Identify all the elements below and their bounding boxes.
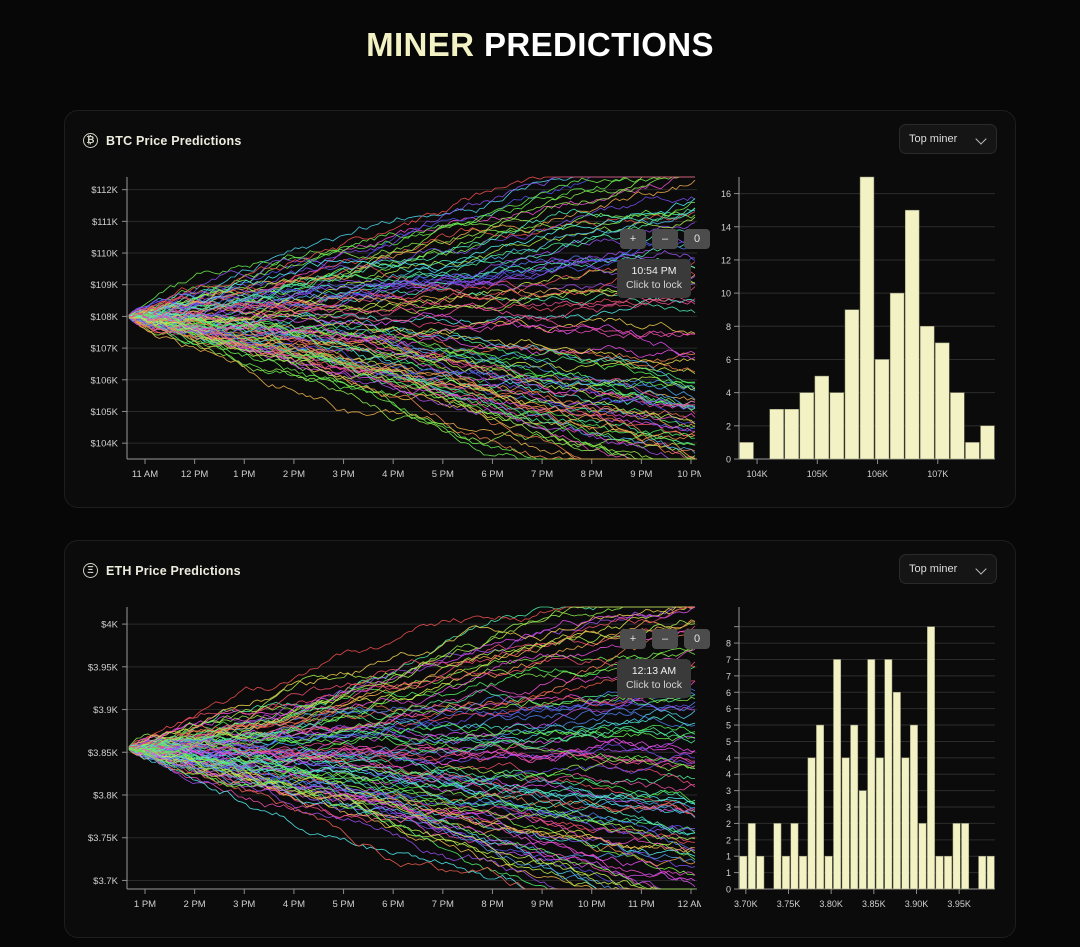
svg-text:8 PM: 8 PM [481,899,503,910]
svg-text:6 PM: 6 PM [481,469,503,480]
svg-text:6 PM: 6 PM [382,899,404,910]
eth-distribution-histogram[interactable]: 01122334455667783.70K3.75K3.80K3.85K3.90… [705,597,1005,935]
svg-text:10 PM: 10 PM [578,899,606,910]
page-title: MINER PREDICTIONS [0,0,1080,64]
btc-card-header: ₿ BTC Price Predictions Top miner [65,111,1015,167]
svg-text:6: 6 [726,355,731,365]
eth-histogram-panel[interactable]: 01122334455667783.70K3.75K3.80K3.85K3.90… [705,597,1005,935]
svg-text:10 PM: 10 PM [677,469,701,480]
svg-text:6: 6 [726,688,731,698]
svg-text:$3.9K: $3.9K [93,705,118,716]
btc-miner-select[interactable]: Top miner [899,124,997,154]
svg-text:3.80K: 3.80K [819,899,843,909]
eth-panels: $4K$3.95K$3.9K$3.85K$3.8K$3.75K$3.7K1 PM… [65,597,1015,935]
svg-text:14: 14 [721,222,731,232]
svg-text:11 AM: 11 AM [132,469,158,480]
svg-text:5 PM: 5 PM [332,899,354,910]
svg-text:7: 7 [726,671,731,681]
svg-text:3.85K: 3.85K [862,899,886,909]
btc-card-title-group: ₿ BTC Price Predictions [83,133,242,148]
btc-panels: $112K$111K$110K$109K$108K$107K$106K$105K… [65,167,1015,505]
eth-miner-select[interactable]: Top miner [899,554,997,584]
svg-text:$3.7K: $3.7K [93,876,118,887]
eth-zoom-controls: + – 0 [620,629,710,649]
btc-zoom-out-button[interactable]: – [652,229,678,249]
chevron-down-icon [976,134,987,145]
svg-text:5: 5 [726,737,731,747]
svg-text:0: 0 [726,885,731,895]
eth-prediction-card: Ξ ETH Price Predictions Top miner $4K$3.… [64,540,1016,938]
eth-zoom-reset-button[interactable]: 0 [684,629,710,649]
btc-prediction-card: ₿ BTC Price Predictions Top miner $112K$… [64,110,1016,508]
svg-text:10: 10 [721,289,731,299]
svg-text:8: 8 [726,322,731,332]
svg-text:$3.95K: $3.95K [88,662,119,673]
page-title-accent: MINER [366,26,474,63]
svg-text:12: 12 [721,255,731,265]
svg-text:4: 4 [726,388,731,398]
svg-text:2: 2 [726,819,731,829]
svg-text:$107K: $107K [91,344,119,355]
svg-text:4 PM: 4 PM [283,899,305,910]
svg-text:1: 1 [726,868,731,878]
eth-tooltip-time: 12:13 AM [626,664,682,678]
svg-text:104K: 104K [747,469,768,479]
svg-text:105K: 105K [807,469,828,479]
svg-text:4: 4 [726,770,731,780]
svg-text:2 PM: 2 PM [184,899,206,910]
svg-text:3.75K: 3.75K [777,899,801,909]
svg-text:3: 3 [726,786,731,796]
eth-zoom-in-button[interactable]: + [620,629,646,649]
btc-tooltip-time: 10:54 PM [626,264,682,278]
eth-card-header: Ξ ETH Price Predictions Top miner [65,541,1015,597]
eth-card-title-group: Ξ ETH Price Predictions [83,563,241,578]
eth-tooltip-hint: Click to lock [626,678,682,692]
eth-tooltip: 12:13 AM Click to lock [617,659,691,698]
svg-text:$3.75K: $3.75K [88,833,119,844]
svg-text:106K: 106K [867,469,888,479]
svg-text:3 PM: 3 PM [332,469,354,480]
svg-text:8 PM: 8 PM [581,469,603,480]
svg-text:3 PM: 3 PM [233,899,255,910]
page-title-main: PREDICTIONS [484,26,714,63]
btc-spaghetti-plot[interactable]: $112K$111K$110K$109K$108K$107K$106K$105K… [75,167,701,505]
svg-text:5: 5 [726,721,731,731]
svg-text:3.95K: 3.95K [947,899,971,909]
svg-text:11 PM: 11 PM [628,899,655,910]
btc-distribution-histogram[interactable]: 0246810121416104K105K106K107K [705,167,1005,505]
btc-tooltip: 10:54 PM Click to lock [617,259,691,298]
svg-text:$112K: $112K [91,185,118,196]
btc-card-title: BTC Price Predictions [106,134,242,148]
svg-text:9 PM: 9 PM [531,899,553,910]
svg-text:$110K: $110K [91,249,118,260]
svg-text:7: 7 [726,655,731,665]
svg-text:6: 6 [726,704,731,714]
svg-text:2 PM: 2 PM [283,469,305,480]
eth-miner-select-value: Top miner [909,563,957,575]
svg-text:1 PM: 1 PM [134,899,156,910]
svg-text:9 PM: 9 PM [630,469,652,480]
chevron-down-icon [976,564,987,575]
btc-miner-select-value: Top miner [909,133,957,145]
svg-text:7 PM: 7 PM [432,899,454,910]
eth-zoom-out-button[interactable]: – [652,629,678,649]
btc-histogram-panel[interactable]: 0246810121416104K105K106K107K [705,167,1005,505]
btc-line-chart-panel[interactable]: $112K$111K$110K$109K$108K$107K$106K$105K… [75,167,701,505]
svg-text:1: 1 [726,852,731,862]
svg-text:$3.85K: $3.85K [88,748,119,759]
svg-text:7 PM: 7 PM [531,469,553,480]
svg-text:107K: 107K [927,469,948,479]
svg-text:$3.8K: $3.8K [93,791,118,802]
svg-text:$104K: $104K [91,439,119,450]
svg-text:3: 3 [726,803,731,813]
svg-text:12 AM: 12 AM [678,899,701,910]
bitcoin-icon: ₿ [83,133,98,148]
svg-text:$108K: $108K [91,312,119,323]
ethereum-icon: Ξ [83,563,98,578]
svg-text:2: 2 [726,421,731,431]
eth-line-chart-panel[interactable]: $4K$3.95K$3.9K$3.85K$3.8K$3.75K$3.7K1 PM… [75,597,701,935]
svg-text:4: 4 [726,753,731,763]
svg-text:0: 0 [726,455,731,465]
svg-text:$109K: $109K [91,280,119,291]
svg-text:4 PM: 4 PM [382,469,404,480]
btc-zoom-controls: + – 0 [620,229,710,249]
eth-spaghetti-plot[interactable]: $4K$3.95K$3.9K$3.85K$3.8K$3.75K$3.7K1 PM… [75,597,701,935]
btc-zoom-reset-button[interactable]: 0 [684,229,710,249]
svg-text:8: 8 [726,639,731,649]
svg-text:$111K: $111K [92,217,119,228]
page-root: MINER PREDICTIONS ₿ BTC Price Prediction… [0,0,1080,947]
eth-card-title: ETH Price Predictions [106,564,241,578]
btc-zoom-in-button[interactable]: + [620,229,646,249]
svg-text:3.90K: 3.90K [905,899,929,909]
svg-text:$4K: $4K [101,620,119,631]
btc-tooltip-hint: Click to lock [626,278,682,292]
svg-text:3.70K: 3.70K [734,899,758,909]
svg-text:$106K: $106K [91,375,119,386]
svg-text:$105K: $105K [91,407,119,418]
svg-text:12 PM: 12 PM [181,469,209,480]
svg-text:2: 2 [726,835,731,845]
svg-text:16: 16 [721,189,731,199]
svg-text:5 PM: 5 PM [432,469,454,480]
svg-text:1 PM: 1 PM [233,469,255,480]
